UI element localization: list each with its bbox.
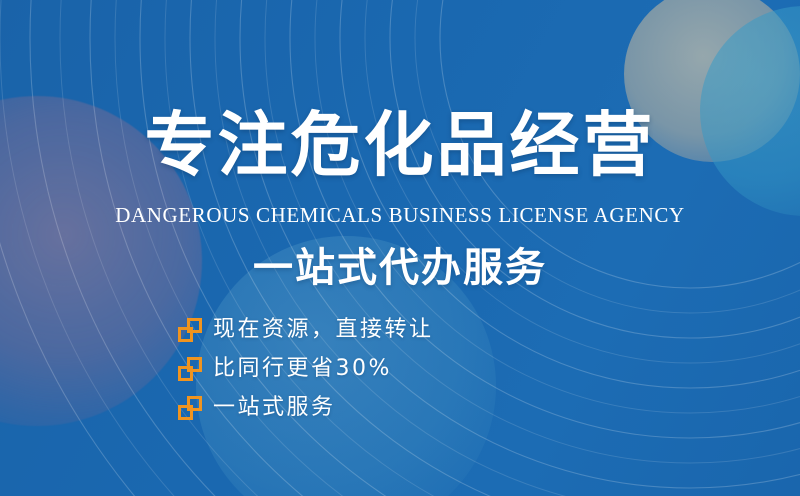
list-item-label: 比同行更省30%	[213, 358, 392, 380]
promo-banner: 专注危化品经营 DANGEROUS CHEMICALS BUSINESS LIC…	[0, 0, 800, 496]
list-item-label: 现在资源，直接转让	[213, 319, 434, 341]
overlapping-squares-icon	[178, 396, 202, 420]
overlapping-squares-icon	[178, 318, 202, 342]
list-item: 比同行更省30%	[178, 354, 434, 384]
list-item-label: 一站式服务	[213, 397, 336, 419]
subtitle-chinese: 一站式代办服务	[0, 245, 800, 291]
list-item: 现在资源，直接转让	[178, 315, 434, 345]
headline: 专注危化品经营	[0, 110, 800, 180]
banner-content: 专注危化品经营 DANGEROUS CHEMICALS BUSINESS LIC…	[0, 0, 800, 496]
overlapping-squares-icon	[178, 357, 202, 381]
subtitle-english: DANGEROUS CHEMICALS BUSINESS LICENSE AGE…	[0, 205, 800, 226]
list-item: 一站式服务	[178, 393, 434, 423]
feature-list: 现在资源，直接转让 比同行更省30% 一站式服务	[178, 315, 434, 423]
